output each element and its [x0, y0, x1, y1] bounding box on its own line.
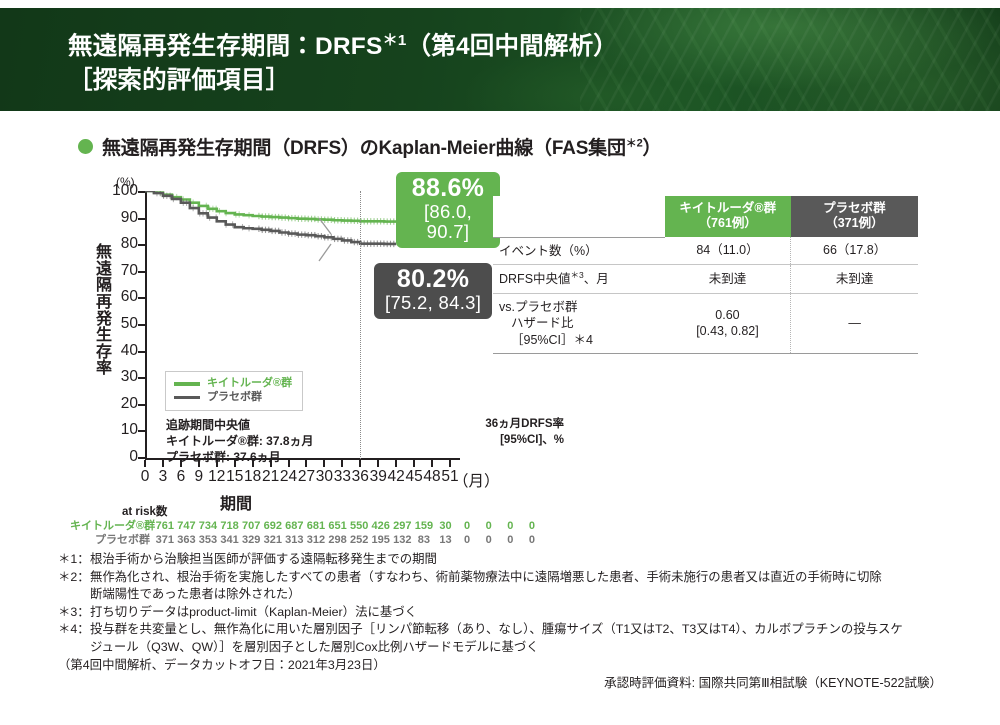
row-value-hr-placebo: — [791, 293, 918, 354]
table-row: vs.プラセボ群 ハザード比 ［95%CI］＊4 0.60 [0.43, 0.8… [493, 293, 918, 354]
footnote-line: 根治手術から治験担当医師が評価する遠隔転移発生までの期間 [90, 551, 948, 569]
table-col-placebo-name: プラセボ群 [823, 201, 886, 215]
legend-swatch-pembro [174, 382, 200, 386]
callout-pembro-value: 88.6% [407, 175, 489, 202]
callout-placebo-ci: [75.2, 84.3] [385, 293, 481, 313]
y-tickmark [138, 457, 146, 459]
page-subtitle: ［探索的評価項目］ [68, 67, 290, 94]
table-row: DRFS中央値＊3、月 未到達 未到達 [493, 265, 918, 294]
y-tick-label: 100 [104, 183, 138, 199]
at-risk-value: 321 [262, 534, 284, 546]
rate-note: 36ヵ月DRFS率 [95%CI]、% [464, 417, 564, 448]
y-tick-label: 30 [104, 369, 138, 385]
header-band: 無遠隔再発生存期間：DRFS＊1（第4回中間解析）［探索的評価項目］ [0, 8, 1000, 111]
footnote-line: ジュール（Q3W、QW）］を層別因子とした層別Cox比例ハザードモデルに基づく [90, 639, 948, 657]
at-risk-row-placebo: プラセボ群 3713633533413293213133122982521951… [70, 531, 543, 547]
row-value-hr-ci: [0.43, 0.82] [696, 324, 759, 338]
footnote-body: 無作為化され、根治手術を実施したすべての患者（すなわち、術前薬物療法中に遠隔増悪… [90, 569, 948, 604]
at-risk-value: 0 [478, 534, 500, 546]
row-label-hr-main: vs.プラセボ群 [499, 300, 577, 314]
row-value-hr-point: 0.60 [715, 308, 739, 322]
followup-median-block: 追跡期間中央値 キイトルーダ®群: 37.8ヵ月 プラセボ群: 37.6ヵ月 [166, 418, 314, 466]
results-table: キイトルーダ®群 （761例） プラセボ群 （371例） イベント数（%） 84… [493, 196, 918, 354]
footnote-body: 投与群を共変量とし、無作為化に用いた層別因子［リンパ節転移（あり、なし）、腫瘍サ… [90, 621, 948, 656]
row-value-hr-pembro: 0.60 [0.43, 0.82] [665, 293, 791, 354]
x-tickmark [413, 460, 415, 467]
x-tickmark [431, 460, 433, 467]
callout-placebo-value: 80.2% [385, 266, 481, 293]
row-value-median-placebo: 未到達 [791, 265, 918, 294]
y-tick-label: 90 [104, 210, 138, 226]
at-risk-value: 298 [327, 534, 349, 546]
row-label-hr-sub2: ［95%CI］＊4 [499, 332, 665, 349]
table-col-pembro: キイトルーダ®群 （761例） [665, 196, 791, 237]
x-tickmark [377, 460, 379, 467]
slide: 無遠隔再発生存期間：DRFS＊1（第4回中間解析）［探索的評価項目］ 無遠隔再発… [0, 0, 1000, 725]
page-title-main: 無遠隔再発生存期間：DRFS [68, 33, 383, 60]
table-corner-cell [493, 196, 665, 237]
legend-label-placebo: プラセボ群 [207, 391, 262, 405]
at-risk-value: 312 [305, 534, 327, 546]
section-heading: 無遠隔再発生存期間（DRFS）のKaplan-Meier曲線（FAS集団＊2） [78, 133, 661, 160]
x-tickmark [162, 460, 164, 467]
at-risk-value: 83 [413, 534, 435, 546]
footnote: ＊3：打ち切りデータはproduct-limit（Kaplan-Meier）法に… [58, 604, 948, 622]
at-risk-value: 13 [435, 534, 457, 546]
row-value-events-pembro: 84（11.0） [665, 237, 791, 265]
x-axis-title: 期間 [220, 490, 252, 514]
y-tick-label: 40 [104, 343, 138, 359]
footnote-marker: ＊4： [58, 621, 90, 656]
at-risk-label-placebo: プラセボ群 [70, 531, 150, 547]
at-risk-value: 0 [521, 534, 543, 546]
section-heading-sup: ＊2 [626, 138, 643, 150]
section-heading-label: 無遠隔再発生存期間（DRFS）のKaplan-Meier曲線（FAS集団＊2） [102, 133, 661, 160]
at-risk-value: 0 [456, 534, 478, 546]
at-risk-value: 371 [154, 534, 176, 546]
page-title-sup: ＊1 [383, 32, 407, 49]
section-heading-tail: ） [643, 138, 662, 159]
table-col-pembro-n: （761例） [699, 216, 757, 230]
at-risk-value: 195 [370, 534, 392, 546]
legend-item-placebo: プラセボ群 [174, 391, 292, 405]
row-label-median-sup: ＊3 [571, 270, 584, 280]
at-risk-value: 353 [197, 534, 219, 546]
at-risk-value: 313 [284, 534, 306, 546]
kaplan-meier-chart: (%) 無遠隔再発生存率 1009080706050403020100 0369… [70, 175, 500, 475]
footnotes: ＊1：根治手術から治験担当医師が評価する遠隔転移発生までの期間＊2：無作為化され… [58, 551, 948, 674]
table-col-placebo: プラセボ群 （371例） [791, 196, 918, 237]
footnote-body: 打ち切りデータはproduct-limit（Kaplan-Meier）法に基づく [90, 604, 948, 622]
followup-placebo: プラセボ群: 37.6ヵ月 [166, 450, 314, 466]
at-risk-values-placebo: 3713633533413293213133122982521951328313… [154, 534, 543, 546]
table-row: イベント数（%） 84（11.0） 66（17.8） [493, 237, 918, 265]
footnote: ＊4：投与群を共変量とし、無作為化に用いた層別因子［リンパ節転移（あり、なし）、… [58, 621, 948, 656]
at-risk-value: 341 [219, 534, 241, 546]
at-risk-value: 0 [500, 534, 522, 546]
page-title-rest: （第4回中間解析） [407, 33, 618, 60]
table-header-row: キイトルーダ®群 （761例） プラセボ群 （371例） [493, 196, 918, 237]
y-tick-label: 0 [104, 449, 138, 465]
rate-note-line2: [95%CI]、% [464, 433, 564, 449]
y-tick-label: 60 [104, 289, 138, 305]
footnote-body: 根治手術から治験担当医師が評価する遠隔転移発生までの期間 [90, 551, 948, 569]
row-value-events-placebo: 66（17.8） [791, 237, 918, 265]
at-risk-value: 132 [392, 534, 414, 546]
y-tick-label: 50 [104, 316, 138, 332]
x-axis-unit: （月） [453, 469, 500, 491]
legend-swatch-placebo [174, 396, 200, 400]
rate-note-line1: 36ヵ月DRFS率 [464, 417, 564, 433]
chart-legend: キイトルーダ®群 プラセボ群 [165, 371, 303, 411]
x-tickmark [323, 460, 325, 467]
km-curve-pembro [145, 191, 396, 222]
row-label-median-tail: 、月 [584, 272, 609, 286]
summary-table: キイトルーダ®群 （761例） プラセボ群 （371例） イベント数（%） 84… [493, 196, 918, 354]
followup-title: 追跡期間中央値 [166, 418, 314, 434]
y-axis-ticks: 1009080706050403020100 [104, 175, 138, 460]
page-title: 無遠隔再発生存期間：DRFS＊1（第4回中間解析）［探索的評価項目］ [68, 30, 928, 98]
table-col-pembro-name: キイトルーダ®群 [679, 201, 776, 215]
footnote-line: 断端陽性であった患者は除外された） [90, 586, 948, 604]
footnote-line: 無作為化され、根治手術を実施したすべての患者（すなわち、術前薬物療法中に遠隔増悪… [90, 569, 948, 587]
callout-placebo-rate: 80.2% [75.2, 84.3] [374, 263, 492, 319]
y-tick-label: 20 [104, 396, 138, 412]
row-label-median-text: DRFS中央値 [499, 272, 571, 286]
at-risk-value: 363 [176, 534, 198, 546]
y-tick-label: 80 [104, 236, 138, 252]
footnote: ＊2：無作為化され、根治手術を実施したすべての患者（すなわち、術前薬物療法中に遠… [58, 569, 948, 604]
legend-item-pembro: キイトルーダ®群 [174, 377, 292, 391]
footnote: ＊1：根治手術から治験担当医師が評価する遠隔転移発生までの期間 [58, 551, 948, 569]
section-heading-main: 無遠隔再発生存期間（DRFS）のKaplan-Meier曲線（FAS集団 [102, 138, 626, 159]
legend-label-pembro: キイトルーダ®群 [207, 377, 292, 391]
x-tickmark [359, 460, 361, 467]
row-label-events: イベント数（%） [493, 237, 665, 265]
footnote-marker: ＊2： [58, 569, 90, 604]
footnote-marker: ＊3： [58, 604, 90, 622]
callout-pembro-ci: [86.0, 90.7] [407, 202, 489, 242]
row-label-hr: vs.プラセボ群 ハザード比 ［95%CI］＊4 [493, 293, 665, 354]
table-col-placebo-n: （371例） [825, 216, 883, 230]
y-tick-label: 10 [104, 422, 138, 438]
callout-pembro-rate: 88.6% [86.0, 90.7] [396, 172, 500, 248]
y-tick-label: 70 [104, 263, 138, 279]
reference-line-36mo [360, 191, 361, 459]
x-tickmark [395, 460, 397, 467]
footnote-marker: ＊1： [58, 551, 90, 569]
source-attribution: 承認時評価資料: 国際共同第Ⅲ相試験（KEYNOTE-522試験） [604, 672, 942, 691]
at-risk-value: 252 [348, 534, 370, 546]
x-tickmark [341, 460, 343, 467]
at-risk-value: 329 [240, 534, 262, 546]
x-tickmark [144, 460, 146, 467]
followup-pembro: キイトルーダ®群: 37.8ヵ月 [166, 434, 314, 450]
row-label-hr-sub1: ハザード比 [499, 315, 665, 332]
row-value-median-pembro: 未到達 [665, 265, 791, 294]
row-label-median: DRFS中央値＊3、月 [493, 265, 665, 294]
x-tickmark [449, 460, 451, 467]
footnote-line: 打ち切りデータはproduct-limit（Kaplan-Meier）法に基づく [90, 604, 948, 622]
bullet-dot-icon [78, 139, 93, 154]
footnote-line: 投与群を共変量とし、無作為化に用いた層別因子［リンパ節転移（あり、なし）、腫瘍サ… [90, 621, 948, 639]
